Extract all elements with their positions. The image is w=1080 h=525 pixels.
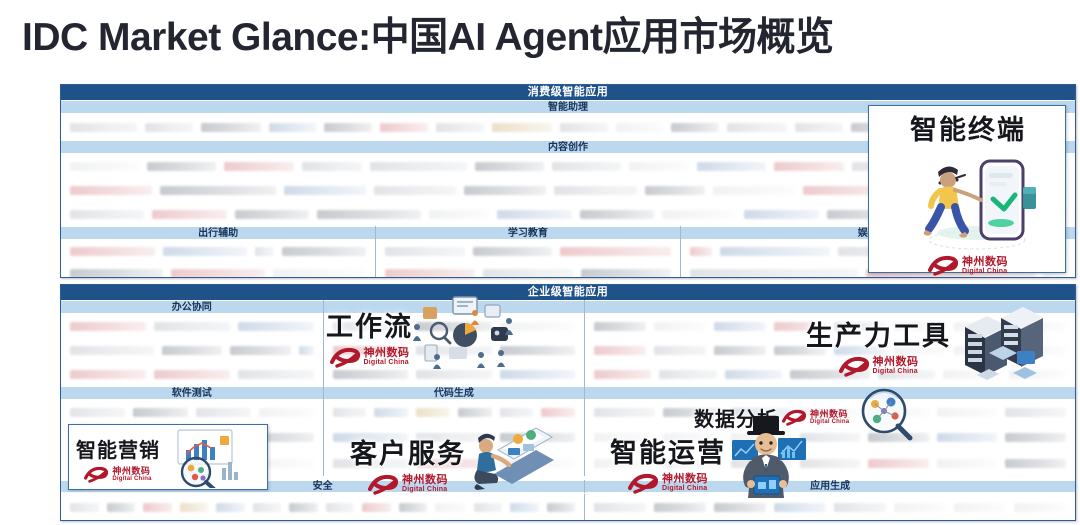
vendor-logo — [774, 346, 826, 355]
consumer-section-header: 消费级智能应用 — [61, 85, 1075, 100]
vendor-logo — [147, 162, 216, 171]
enterprise-section-header: 企业级智能应用 — [61, 285, 1075, 300]
vendor-logo — [697, 162, 766, 171]
vendor-logo — [216, 503, 245, 512]
vendor-logo — [180, 503, 209, 512]
logo-row — [324, 424, 585, 450]
vendor-logo — [374, 186, 456, 195]
logo-row — [585, 400, 1075, 424]
vendor-logo — [878, 370, 935, 379]
vendor-logo — [500, 459, 576, 468]
vendor-logo — [474, 503, 503, 512]
logo-row — [324, 338, 585, 362]
vendor-logo — [299, 346, 314, 355]
vendor-logo — [894, 322, 946, 331]
vendor-logo — [1014, 322, 1066, 331]
enterprise-bottom-logo-strip — [61, 494, 1075, 520]
vendor-logo — [483, 269, 573, 278]
vendor-logo — [943, 370, 1000, 379]
enterprise-subheader-right-top — [585, 300, 1075, 314]
smart-terminal-card — [868, 105, 1066, 273]
vendor-logo — [416, 459, 492, 468]
vendor-logo — [500, 322, 576, 331]
vendor-logo — [581, 269, 671, 278]
vendor-logo — [163, 247, 248, 256]
vendor-logo — [560, 123, 608, 132]
vendor-logo — [714, 322, 766, 331]
vendor-logo — [230, 346, 290, 355]
vendor-logo — [714, 503, 766, 512]
vendor-logo — [1009, 370, 1066, 379]
logo-row — [585, 338, 1075, 362]
vendor-logo — [284, 186, 366, 195]
vendor-logo — [70, 503, 99, 512]
logo-row — [585, 362, 1075, 386]
vendor-logo — [70, 247, 155, 256]
vendor-logo — [324, 123, 372, 132]
vendor-logo — [145, 123, 193, 132]
vendor-logo — [333, 408, 367, 417]
vendor-logo — [594, 433, 655, 442]
consumer-subheader-travel: 出行辅助 — [61, 226, 375, 240]
vendor-logo — [541, 408, 575, 417]
vendor-logo — [713, 186, 795, 195]
bottom-strip-left — [61, 494, 584, 520]
vendor-logo — [70, 346, 154, 355]
vendor-logo — [663, 459, 724, 468]
logo-row — [61, 262, 375, 278]
vendor-logo — [800, 459, 861, 468]
vendor-logo — [162, 346, 222, 355]
vendor-logo — [107, 503, 136, 512]
vendor-logo — [954, 503, 1006, 512]
vendor-logo — [580, 210, 654, 219]
consumer-subheader-education: 学习教育 — [376, 226, 679, 240]
smart-marketing-card — [68, 424, 268, 490]
vendor-logo — [800, 408, 861, 417]
logo-row — [324, 362, 585, 386]
vendor-logo — [333, 346, 409, 355]
vendor-logo — [70, 370, 146, 379]
vendor-logo — [552, 162, 621, 171]
vendor-logo — [659, 370, 716, 379]
logo-row — [585, 494, 1075, 520]
vendor-logo — [731, 433, 792, 442]
vendor-logo — [594, 370, 651, 379]
vendor-logo — [594, 503, 646, 512]
page-title: IDC Market Glance:中国AI Agent应用市场概览 — [22, 18, 833, 57]
vendor-logo — [671, 123, 719, 132]
vendor-logo — [253, 503, 282, 512]
vendor-logo — [70, 210, 144, 219]
vendor-logo — [554, 186, 636, 195]
vendor-logo — [616, 123, 664, 132]
vendor-logo — [937, 408, 998, 417]
vendor-logo — [790, 370, 870, 379]
vendor-logo — [594, 322, 646, 331]
vendor-logo — [154, 322, 230, 331]
enterprise-subheader-middle-top — [324, 300, 585, 314]
vendor-logo — [326, 503, 355, 512]
logo-row — [61, 338, 323, 362]
market-glance-infographic: IDC Market Glance:中国AI Agent应用市场概览 消费级智能… — [0, 0, 1080, 525]
logo-row — [585, 314, 1075, 338]
vendor-logo — [629, 162, 689, 171]
logo-row — [324, 400, 585, 424]
vendor-logo — [302, 162, 362, 171]
vendor-logo — [235, 210, 309, 219]
vendor-logo — [475, 162, 544, 171]
vendor-logo — [500, 433, 576, 442]
vendor-logo — [795, 123, 843, 132]
vendor-logo — [744, 210, 818, 219]
vendor-logo — [774, 503, 826, 512]
enterprise-column-right — [584, 300, 1075, 476]
vendor-logo — [70, 186, 152, 195]
logo-row — [324, 314, 585, 338]
vendor-logo — [70, 269, 163, 278]
vendor-logo — [385, 247, 464, 256]
logo-row — [324, 450, 585, 476]
vendor-logo — [714, 346, 766, 355]
vendor-logo — [160, 186, 275, 195]
vendor-logo — [654, 346, 706, 355]
vendor-logo — [492, 123, 552, 132]
vendor-logo — [399, 503, 428, 512]
vendor-logo — [269, 123, 317, 132]
enterprise-subheader-office: 办公协同 — [61, 300, 323, 314]
vendor-logo — [834, 346, 886, 355]
vendor-logo — [133, 408, 188, 417]
vendor-logo — [333, 322, 409, 331]
vendor-logo — [937, 433, 998, 442]
vendor-logo — [201, 123, 261, 132]
vendor-logo — [435, 503, 466, 512]
vendor-logo — [1005, 408, 1066, 417]
vendor-logo — [594, 408, 655, 417]
vendor-logo — [500, 346, 576, 355]
enterprise-subheader-right-mid — [585, 386, 1075, 400]
vendor-logo — [429, 210, 489, 219]
vendor-logo — [1005, 459, 1066, 468]
logo-row — [376, 240, 679, 262]
vendor-logo — [416, 433, 492, 442]
vendor-logo — [385, 269, 475, 278]
vendor-logo — [143, 503, 172, 512]
vendor-logo — [690, 247, 713, 256]
logo-row — [61, 240, 375, 262]
vendor-logo — [594, 459, 655, 468]
vendor-logo — [436, 123, 484, 132]
vendor-logo — [333, 433, 409, 442]
vendor-logo — [727, 123, 787, 132]
vendor-logo — [259, 408, 314, 417]
vendor-logo — [416, 408, 450, 417]
vendor-logo — [662, 210, 736, 219]
vendor-logo — [416, 346, 492, 355]
vendor-logo — [317, 210, 421, 219]
vendor-logo — [500, 408, 534, 417]
vendor-logo — [645, 186, 705, 195]
vendor-logo — [868, 408, 929, 417]
vendor-logo — [654, 322, 706, 331]
vendor-logo — [70, 408, 125, 417]
vendor-logo — [380, 123, 428, 132]
vendor-logo — [416, 322, 492, 331]
consumer-column-travel: 出行辅助 — [61, 226, 375, 278]
vendor-logo — [374, 408, 408, 417]
bottom-strip-right — [584, 494, 1075, 520]
vendor-logo — [282, 247, 367, 256]
vendor-logo — [238, 370, 314, 379]
vendor-logo — [458, 408, 492, 417]
logo-row — [585, 450, 1075, 476]
vendor-logo — [725, 370, 782, 379]
logo-row — [61, 362, 323, 386]
vendor-logo — [560, 247, 671, 256]
vendor-logo — [594, 346, 646, 355]
enterprise-subheader-software-testing: 软件测试 — [61, 386, 323, 400]
vendor-logo — [1014, 503, 1066, 512]
logo-row — [61, 314, 323, 338]
logo-row — [61, 400, 323, 424]
vendor-logo — [774, 322, 826, 331]
vendor-logo — [152, 210, 226, 219]
vendor-logo — [834, 322, 886, 331]
vendor-logo — [690, 269, 859, 278]
vendor-logo — [663, 408, 724, 417]
vendor-logo — [70, 123, 137, 132]
vendor-logo — [954, 322, 1006, 331]
enterprise-subheader-app-generation: 应用生成 — [585, 480, 1075, 493]
vendor-logo — [834, 503, 886, 512]
vendor-logo — [894, 503, 946, 512]
vendor-logo — [333, 370, 409, 379]
vendor-logo — [547, 503, 576, 512]
vendor-logo — [362, 503, 391, 512]
vendor-logo — [464, 186, 546, 195]
vendor-logo — [654, 503, 706, 512]
vendor-logo — [868, 433, 929, 442]
vendor-logo — [720, 247, 830, 256]
enterprise-column-middle: 代码生成 — [323, 300, 585, 476]
vendor-logo — [238, 322, 314, 331]
vendor-logo — [868, 459, 929, 468]
vendor-logo — [774, 162, 843, 171]
vendor-logo — [731, 459, 792, 468]
vendor-logo — [937, 459, 998, 468]
vendor-logo — [500, 370, 576, 379]
vendor-logo — [510, 503, 539, 512]
enterprise-bottom-app-generation: 应用生成 — [584, 480, 1075, 493]
enterprise-subheader-code-generation: 代码生成 — [324, 386, 585, 400]
vendor-logo — [800, 433, 861, 442]
vendor-logo — [731, 408, 792, 417]
vendor-logo — [473, 247, 552, 256]
logo-row — [376, 262, 679, 278]
vendor-logo — [954, 346, 1006, 355]
vendor-logo — [196, 408, 251, 417]
vendor-logo — [70, 322, 146, 331]
vendor-logo — [370, 162, 467, 171]
vendor-logo — [416, 370, 492, 379]
vendor-logo — [1005, 433, 1066, 442]
vendor-logo — [289, 503, 318, 512]
vendor-logo — [154, 370, 230, 379]
logo-row — [61, 494, 584, 520]
vendor-logo — [171, 269, 264, 278]
vendor-logo — [894, 346, 946, 355]
vendor-logo — [663, 433, 724, 442]
vendor-logo — [273, 269, 366, 278]
consumer-column-education: 学习教育 — [375, 226, 679, 278]
vendor-logo — [70, 162, 139, 171]
vendor-logo — [497, 210, 571, 219]
vendor-logo — [224, 162, 293, 171]
logo-row — [585, 424, 1075, 450]
vendor-logo — [1014, 346, 1066, 355]
vendor-logo — [333, 459, 409, 468]
vendor-logo — [255, 247, 273, 256]
